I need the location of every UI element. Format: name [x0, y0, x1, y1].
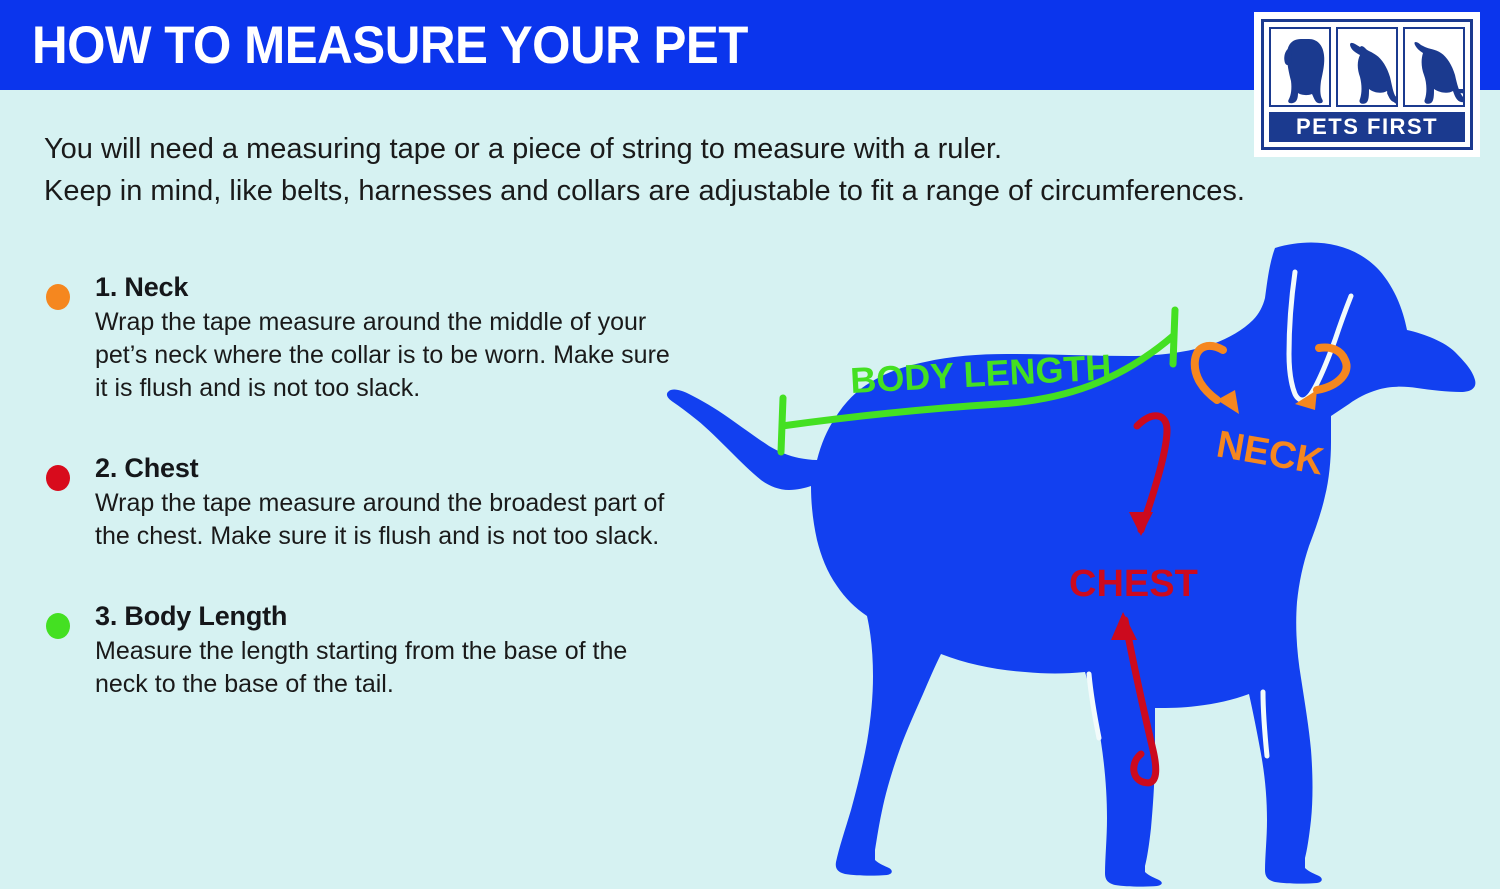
step-title-neck: 1. Neck: [95, 270, 680, 304]
step-bullet-neck: [46, 284, 70, 310]
measurement-steps-list: 1. Neck Wrap the tape measure around the…: [40, 270, 680, 747]
step-title-chest: 2. Chest: [95, 451, 680, 485]
howling-dog-silhouette-icon: [1336, 27, 1398, 107]
step-title-body-length: 3. Body Length: [95, 599, 680, 633]
intro-line-2: Keep in mind, like belts, harnesses and …: [44, 170, 1334, 212]
step-body-body-length: Measure the length starting from the bas…: [95, 635, 680, 701]
shepherd-dog-silhouette-icon: [1403, 27, 1465, 107]
intro-line-1: You will need a measuring tape or a piec…: [44, 128, 1334, 170]
chest-label: CHEST: [1069, 563, 1198, 605]
list-item: 1. Neck Wrap the tape measure around the…: [40, 270, 680, 405]
step-bullet-body-length: [46, 613, 70, 639]
sitting-dog-silhouette-icon: [1269, 27, 1331, 107]
list-item: 2. Chest Wrap the tape measure around th…: [40, 451, 680, 553]
intro-text: You will need a measuring tape or a piec…: [44, 128, 1334, 212]
step-body-chest: Wrap the tape measure around the broades…: [95, 487, 680, 553]
dog-measurement-diagram: BODY LENGTH NECK CHEST: [655, 230, 1500, 889]
list-item: 3. Body Length Measure the length starti…: [40, 599, 680, 701]
logo-icon-row: [1269, 27, 1465, 107]
step-body-neck: Wrap the tape measure around the middle …: [95, 306, 680, 405]
page-title: HOW TO MEASURE YOUR PET: [32, 17, 748, 75]
step-bullet-chest: [46, 465, 70, 491]
